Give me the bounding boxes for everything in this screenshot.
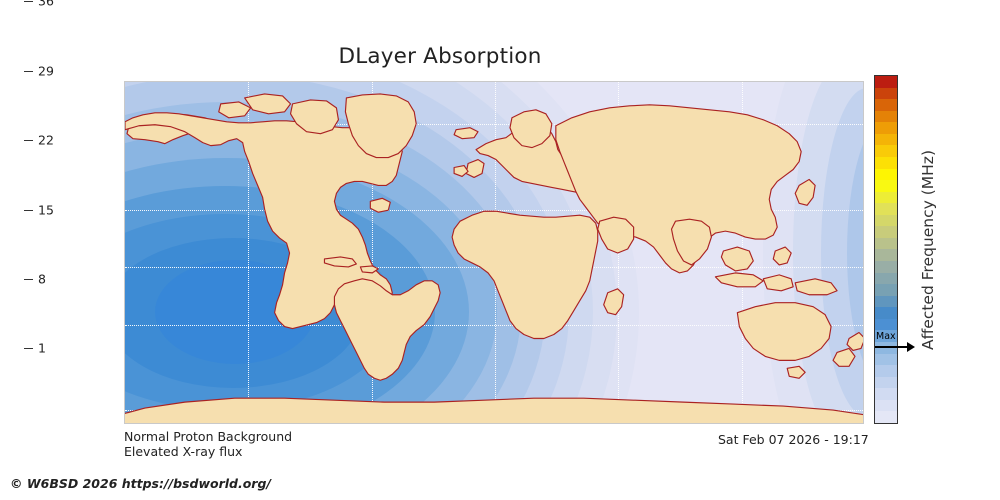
coast-arctic-islands-1 — [245, 94, 291, 114]
colorbar-band — [875, 377, 897, 389]
coast-africa — [452, 211, 598, 338]
colorbar-axis-label: Affected Frequency (MHz) — [916, 75, 940, 424]
colorbar-band — [875, 203, 897, 215]
colorbar-band — [875, 296, 897, 308]
colorbar-ticks: 36 29 22 15 8 1 — [24, 0, 84, 349]
colorbar[interactable] — [874, 75, 898, 424]
coast-tasmania — [787, 366, 805, 378]
timestamp: Sat Feb 07 2026 - 19:17 — [718, 432, 869, 447]
colorbar-band — [875, 169, 897, 181]
colorbar-band — [875, 99, 897, 111]
coast-new-guinea — [795, 279, 837, 295]
colorbar-band — [875, 307, 897, 319]
colorbar-band — [875, 411, 897, 423]
colorbar-gradient — [874, 75, 898, 424]
colorbar-band — [875, 261, 897, 273]
coast-indonesia-2 — [763, 275, 793, 291]
coast-arctic-islands-2 — [219, 102, 251, 118]
colorbar-tick-label: 29 — [38, 63, 54, 78]
coast-japan — [795, 179, 815, 205]
colorbar-band — [875, 145, 897, 157]
colorbar-tick-label: 1 — [38, 341, 46, 356]
colorbar-band — [875, 122, 897, 134]
colorbar-band — [875, 88, 897, 100]
status-note-xray: Elevated X-ray flux — [124, 444, 292, 459]
colorbar-tick-mark — [24, 210, 33, 211]
colorbar-tick-label: 22 — [38, 133, 54, 148]
coast-australia — [737, 303, 831, 361]
colorbar-tick-label: 36 — [38, 0, 54, 9]
colorbar-band — [875, 226, 897, 238]
colorbar-tick-label: 15 — [38, 202, 54, 217]
coast-newfoundland — [370, 198, 390, 212]
max-marker-label: Max — [876, 331, 896, 342]
coast-madagascar — [604, 289, 624, 315]
landmasses — [125, 82, 863, 423]
coast-southeast-asia — [721, 247, 753, 271]
coast-south-america — [334, 279, 440, 380]
coast-new-zealand-south — [833, 348, 855, 366]
colorbar-band — [875, 215, 897, 227]
colorbar-band — [875, 180, 897, 192]
colorbar-band — [875, 111, 897, 123]
coast-arabia — [598, 217, 634, 253]
page-title: DLayer Absorption — [0, 44, 880, 69]
coast-indonesia-1 — [715, 273, 763, 287]
colorbar-axis-label-text: Affected Frequency (MHz) — [919, 150, 937, 350]
colorbar-band — [875, 76, 897, 88]
colorbar-tick-mark — [24, 1, 33, 2]
status-note-proton: Normal Proton Background — [124, 429, 292, 444]
max-marker: Max — [874, 332, 920, 358]
colorbar-tick-mark — [24, 348, 33, 349]
coast-philippines — [773, 247, 791, 265]
coast-ireland — [454, 166, 468, 177]
colorbar-band — [875, 365, 897, 377]
colorbar-band — [875, 388, 897, 400]
copyright-notice: © W6BSD 2026 https://bsdworld.org/ — [10, 476, 271, 491]
colorbar-band — [875, 238, 897, 250]
max-arrow-head-icon — [907, 342, 915, 352]
coast-antarctica — [125, 398, 863, 423]
coast-iceland — [454, 128, 478, 139]
status-notes: Normal Proton Background Elevated X-ray … — [124, 429, 292, 459]
colorbar-band — [875, 273, 897, 285]
max-arrow-shaft — [875, 346, 909, 348]
figure-root: DLayer Absorption — [0, 0, 1000, 500]
colorbar-band — [875, 157, 897, 169]
colorbar-band — [875, 134, 897, 146]
colorbar-band — [875, 400, 897, 412]
coast-new-zealand-north — [847, 333, 863, 351]
colorbar-band — [875, 319, 897, 331]
world-map[interactable] — [124, 81, 864, 424]
colorbar-tick-mark — [24, 140, 33, 141]
colorbar-tick-mark — [24, 279, 33, 280]
colorbar-band — [875, 249, 897, 261]
colorbar-tick-label: 8 — [38, 272, 46, 287]
colorbar-tick-mark — [24, 71, 33, 72]
colorbar-band — [875, 284, 897, 296]
coast-uk — [466, 160, 484, 178]
colorbar-band — [875, 192, 897, 204]
